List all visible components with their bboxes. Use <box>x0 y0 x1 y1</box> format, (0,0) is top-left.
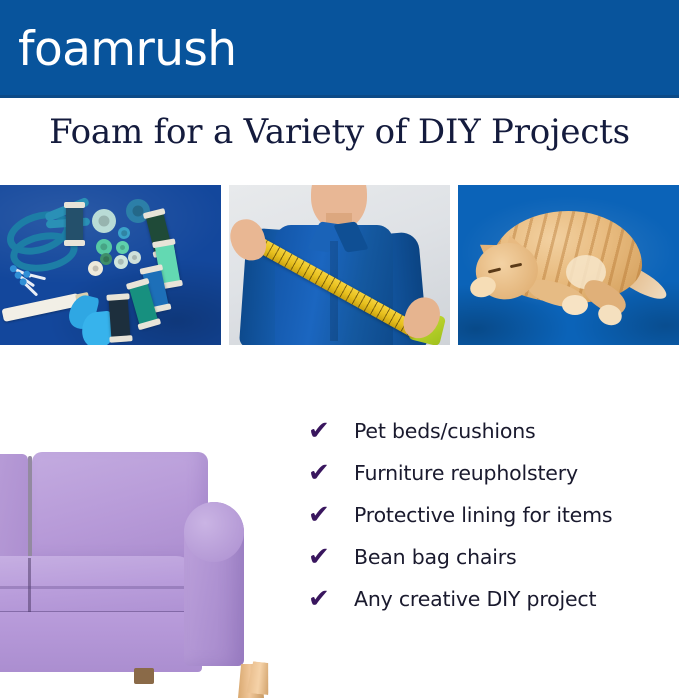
feature-label: Any creative DIY project <box>354 587 596 611</box>
button-icon <box>92 209 116 233</box>
button-icon <box>116 241 129 254</box>
feature-item: ✔ Any creative DIY project <box>306 578 679 620</box>
sofa-base <box>0 612 202 672</box>
feature-label: Protective lining for items <box>354 503 612 527</box>
button-icon <box>88 261 103 276</box>
feature-label: Furniture reupholstery <box>354 461 578 485</box>
feature-item: ✔ Pet beds/cushions <box>306 410 679 452</box>
feature-item: ✔ Furniture reupholstery <box>306 452 679 494</box>
check-icon: ✔ <box>306 418 354 444</box>
sofa-back-cushion-left <box>0 454 28 562</box>
feature-label: Bean bag chairs <box>354 545 516 569</box>
sofa-leg-back <box>134 668 154 684</box>
sofa-seat-welt <box>0 586 194 589</box>
brand-logo[interactable]: foamrush <box>18 22 236 78</box>
feature-list: ✔ Pet beds/cushions ✔ Furniture reuphols… <box>306 410 679 620</box>
button-icon <box>128 251 141 264</box>
cat-front-paw <box>562 295 588 315</box>
check-icon: ✔ <box>306 586 354 612</box>
cat-on-cushion-photo <box>458 185 679 345</box>
sofa-back-seam <box>28 456 32 562</box>
purple-sofa-illustration <box>0 450 276 679</box>
page-title: Foam for a Variety of DIY Projects <box>0 112 679 152</box>
button-icon <box>114 255 128 269</box>
sewing-supplies-photo <box>0 185 221 345</box>
thread-spool-icon <box>108 294 130 341</box>
tape-measure-photo <box>229 185 450 345</box>
feature-label: Pet beds/cushions <box>354 419 535 443</box>
sofa-arm-roll <box>184 502 244 562</box>
feature-item: ✔ Protective lining for items <box>306 494 679 536</box>
check-icon: ✔ <box>306 544 354 570</box>
button-icon <box>118 227 130 239</box>
check-icon: ✔ <box>306 502 354 528</box>
check-icon: ✔ <box>306 460 354 486</box>
sofa-back-cushion-main <box>32 452 208 564</box>
button-icon <box>100 253 112 265</box>
header-banner-divider <box>0 95 679 98</box>
thread-spool-icon <box>66 203 83 245</box>
photo-strip <box>0 185 679 345</box>
feature-item: ✔ Bean bag chairs <box>306 536 679 578</box>
